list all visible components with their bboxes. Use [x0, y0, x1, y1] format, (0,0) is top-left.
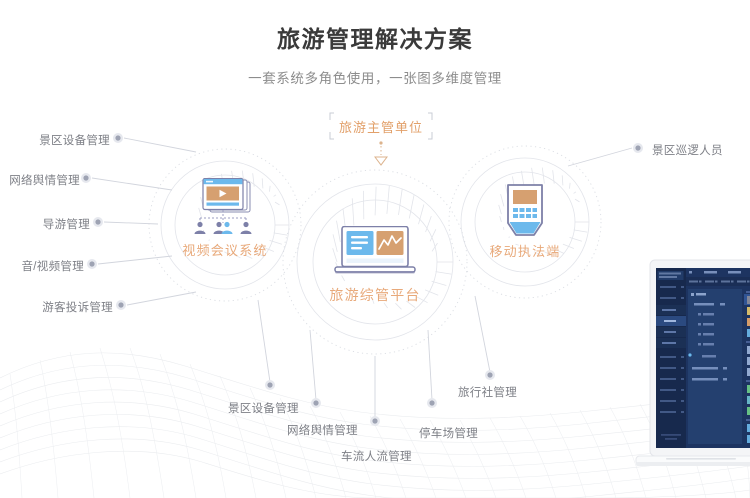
caption-mobile-enforcement: 移动执法端 [473, 241, 577, 260]
left-label-4[interactable]: 游客投诉管理 [12, 299, 113, 315]
page-title: 旅游管理解决方案 [0, 26, 750, 54]
bottom-label-3[interactable]: 停车场管理 [419, 425, 478, 441]
video-conference-icon [188, 178, 264, 236]
page-subtitle: 一套系统多角色使用，一张图多维度管理 [0, 67, 750, 87]
top-tag-stem-dot [379, 141, 382, 144]
caption-video-conference: 视频会议系统 [165, 240, 285, 259]
left-label-0[interactable]: 景区设备管理 [10, 132, 110, 148]
bottom-label-2[interactable]: 车流人流管理 [341, 448, 412, 464]
left-label-3[interactable]: 音/视频管理 [0, 258, 84, 274]
left-label-1[interactable]: 网络舆情管理 [0, 172, 80, 188]
left-label-2[interactable]: 导游管理 [10, 216, 90, 232]
bottom-label-4[interactable]: 旅行社管理 [458, 384, 517, 400]
top-tag-authority[interactable]: 旅游主管单位 [330, 113, 432, 139]
right-connector-dots [633, 143, 643, 153]
page-header: 旅游管理解决方案 一套系统多角色使用，一张图多维度管理 [0, 0, 750, 87]
laptop-dashboard-mockup [628, 256, 750, 498]
right-connectors [568, 148, 632, 166]
solution-diagram-page: 旅游管理解决方案 一套系统多角色使用，一张图多维度管理 [0, 0, 750, 498]
caption-tourism-platform: 旅游综管平台 [315, 285, 435, 305]
laptop-dashboard-icon [333, 226, 417, 278]
left-connectors [92, 138, 196, 305]
bottom-label-1[interactable]: 网络舆情管理 [287, 422, 358, 438]
handheld-device-icon [502, 183, 548, 241]
right-label-0[interactable]: 景区巡逻人员 [652, 142, 723, 158]
caret-down-icon [375, 157, 387, 165]
top-tag-label: 旅游主管单位 [339, 117, 423, 136]
bottom-label-0[interactable]: 景区设备管理 [228, 400, 299, 416]
